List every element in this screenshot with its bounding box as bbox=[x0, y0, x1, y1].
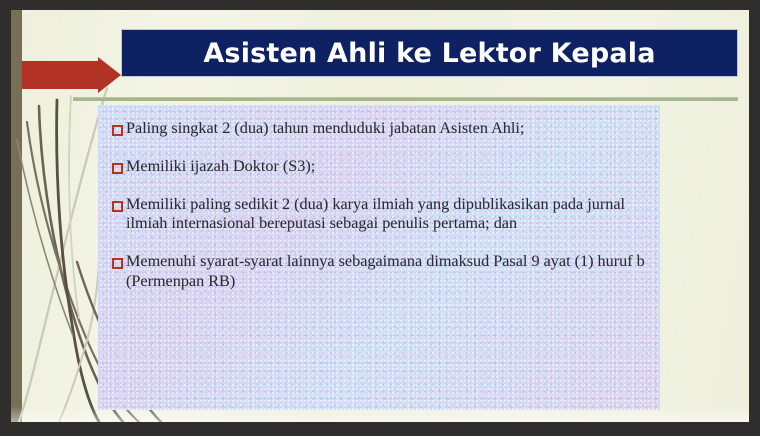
left-accent-bar bbox=[11, 10, 22, 422]
list-item-text: Paling singkat 2 (dua) tahun menduduki j… bbox=[126, 119, 524, 139]
list-item: Memiliki ijazah Doktor (S3); bbox=[112, 157, 652, 177]
list-item-text: Memenuhi syarat-syarat lainnya sebagaima… bbox=[126, 252, 652, 292]
slide-outer-frame: Asisten Ahli ke Lektor Kepala Paling sin… bbox=[0, 0, 760, 436]
title-divider-rule bbox=[73, 97, 738, 101]
content-panel: Paling singkat 2 (dua) tahun menduduki j… bbox=[98, 105, 660, 410]
bullet-list: Paling singkat 2 (dua) tahun menduduki j… bbox=[98, 105, 660, 292]
hollow-square-bullet-icon bbox=[112, 163, 123, 174]
list-item-text: Memiliki paling sedikit 2 (dua) karya il… bbox=[126, 195, 652, 235]
list-item: Memenuhi syarat-syarat lainnya sebagaima… bbox=[112, 252, 652, 292]
slide-canvas: Asisten Ahli ke Lektor Kepala Paling sin… bbox=[11, 10, 749, 422]
list-item: Paling singkat 2 (dua) tahun menduduki j… bbox=[112, 119, 652, 139]
slide-title-bar: Asisten Ahli ke Lektor Kepala bbox=[121, 29, 738, 77]
hollow-square-bullet-icon bbox=[112, 125, 123, 136]
page-title: Asisten Ahli ke Lektor Kepala bbox=[203, 40, 655, 67]
list-item: Memiliki paling sedikit 2 (dua) karya il… bbox=[112, 195, 652, 235]
hollow-square-bullet-icon bbox=[112, 258, 123, 269]
list-item-text: Memiliki ijazah Doktor (S3); bbox=[126, 157, 315, 177]
right-arrow-icon bbox=[22, 57, 121, 93]
hollow-square-bullet-icon bbox=[112, 201, 123, 212]
